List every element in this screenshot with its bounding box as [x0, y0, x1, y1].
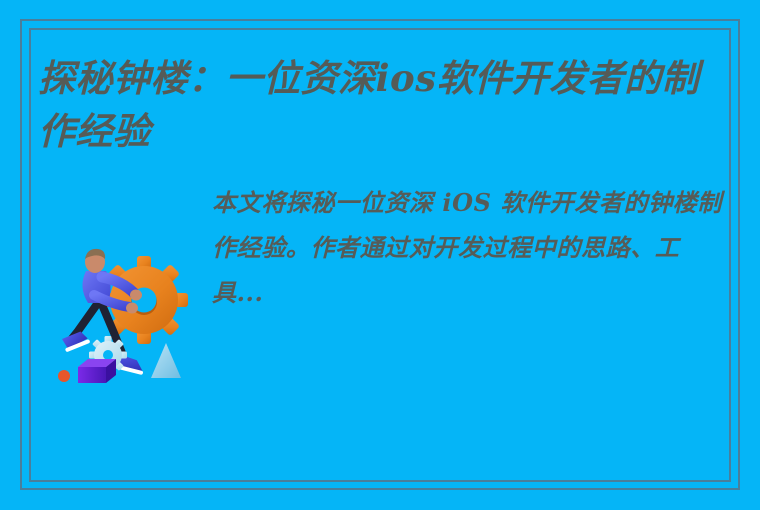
blue-triangle	[151, 343, 181, 378]
article-summary: 本文将探秘一位资深 iOS 软件开发者的钟楼制作经验。作者通过对开发过程中的思路…	[212, 180, 722, 315]
hero-illustration	[48, 245, 208, 395]
page-title: 探秘钟楼：一位资深ios软件开发者的制作经验	[38, 52, 728, 158]
head	[85, 249, 105, 273]
hand-lower	[126, 303, 138, 314]
orange-ball	[58, 370, 70, 382]
purple-block	[78, 359, 116, 383]
article-card: 探秘钟楼：一位资深ios软件开发者的制作经验 本文将探秘一位资深 iOS 软件开…	[0, 0, 760, 510]
hand-upper	[130, 290, 142, 301]
